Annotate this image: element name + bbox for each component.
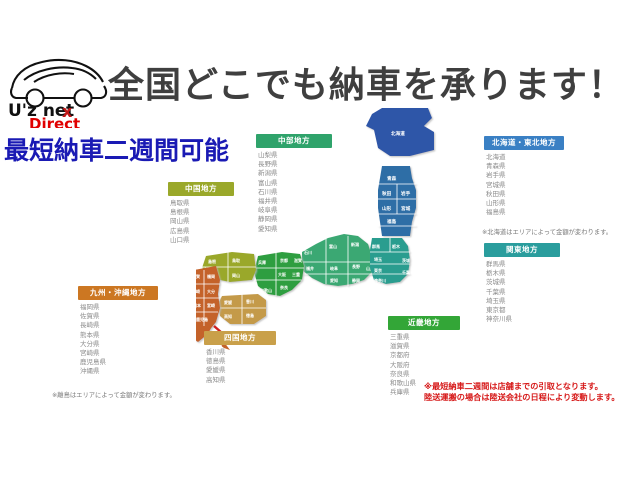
map-label-tokyo: 東京 — [374, 267, 382, 273]
wheel-rear-icon — [75, 90, 92, 107]
list-item: 山形県 — [486, 199, 564, 208]
list-item: 大阪府 — [390, 361, 460, 370]
list-item: 鳥取県 — [170, 199, 234, 208]
delivery-note-line2: 陸送運搬の場合は陸送会社の日程により変動します。 — [424, 392, 620, 404]
region-prefecture-list-kanto: 群馬県 栃木県 茨城県 千葉県 埼玉県 東京都 神奈川県 — [486, 260, 560, 324]
map-label-nagasaki: 長崎 — [196, 288, 200, 294]
list-item: 秋田県 — [486, 190, 564, 199]
list-item: 神奈川県 — [486, 315, 560, 324]
region-title-chugoku: 中国地方 — [168, 182, 234, 196]
list-item: 福島県 — [486, 208, 564, 217]
region-box-chugoku: 中国地方 鳥取県 島根県 岡山県 広島県 山口県 — [168, 182, 234, 245]
region-box-kyushu-okinawa: 九州・沖縄地方 福岡県 佐賀県 長崎県 熊本県 大分県 宮崎県 鹿児島県 沖縄県 — [78, 286, 158, 377]
list-item: 東京都 — [486, 306, 560, 315]
map-label-yamagata: 山形 — [382, 205, 392, 212]
map-label-ishikawa: 石川 — [303, 249, 312, 255]
region-prefecture-list-chugoku: 鳥取県 島根県 岡山県 広島県 山口県 — [170, 199, 234, 245]
list-item: 奈良県 — [390, 370, 460, 379]
list-item: 愛媛県 — [206, 366, 276, 375]
list-item: 静岡県 — [258, 215, 332, 224]
region-box-kanto: 関東地方 群馬県 栃木県 茨城県 千葉県 埼玉県 東京都 神奈川県 — [484, 243, 560, 324]
region-prefecture-list-chubu: 山梨県 長野県 新潟県 富山県 石川県 福井県 岐阜県 静岡県 愛知県 — [258, 151, 332, 234]
map-label-oita: 大分 — [207, 288, 215, 294]
list-item: 三重県 — [390, 333, 460, 342]
region-box-shikoku: 四国地方 香川県 徳島県 愛媛県 高知県 — [204, 331, 276, 385]
map-label-nagano: 長野 — [352, 263, 360, 269]
map-label-osaka: 大阪 — [278, 271, 286, 277]
map-label-shimane: 島根 — [208, 258, 216, 264]
list-item: 大分県 — [80, 340, 158, 349]
list-item: 茨城県 — [486, 278, 560, 287]
map-label-wakayama: 和歌山 — [259, 287, 272, 293]
map-label-ehime: 愛媛 — [224, 299, 233, 305]
map-label-shizuoka: 静岡 — [352, 277, 360, 283]
list-item: 群馬県 — [486, 260, 560, 269]
region-title-kinki: 近畿地方 — [388, 316, 460, 330]
region-title-shikoku: 四国地方 — [204, 331, 276, 345]
map-label-kumamoto: 熊本 — [196, 302, 201, 308]
list-item: 長崎県 — [80, 321, 158, 330]
delivery-note-line1: ※最短納車二週間は店舗までの引取となります。 — [424, 381, 603, 393]
list-item: 埼玉県 — [486, 297, 560, 306]
map-label-kanagawa: 神奈川 — [374, 277, 386, 283]
region-prefecture-list-kyushu-okinawa: 福岡県 佐賀県 長崎県 熊本県 大分県 宮崎県 鹿児島県 沖縄県 — [80, 303, 158, 377]
map-label-kochi: 高知 — [224, 313, 232, 319]
map-label-kyoto: 京都 — [280, 257, 288, 263]
map-label-nara: 奈良 — [279, 284, 288, 290]
map-label-shiga: 滋賀 — [294, 257, 303, 263]
map-label-saitama: 埼玉 — [374, 256, 382, 262]
region-prefecture-list-hokkaido-tohoku: 北海道 青森県 岩手県 宮城県 秋田県 山形県 福島県 — [486, 153, 564, 217]
map-label-hokkaido: 北海道 — [391, 130, 405, 137]
list-item: 北海道 — [486, 153, 564, 162]
map-label-fukui: 福井 — [305, 265, 314, 271]
list-item: 香川県 — [206, 348, 276, 357]
list-item: 岡山県 — [170, 217, 234, 226]
list-item: 沖縄県 — [80, 367, 158, 376]
list-item: 石川県 — [258, 188, 332, 197]
map-label-fukushima: 福島 — [386, 218, 397, 225]
remote-islands-note: ※離島はエリアによって金額が変わります。 — [52, 390, 176, 399]
region-title-chubu: 中部地方 — [256, 134, 332, 148]
region-box-hokkaido-tohoku: 北海道・東北地方 北海道 青森県 岩手県 宮城県 秋田県 山形県 福島県 — [484, 136, 564, 217]
brand-logo: U'z ne t x Direct — [4, 36, 112, 128]
car-silhouette-icon — [11, 60, 106, 98]
region-prefecture-list-shikoku: 香川県 徳島県 愛媛県 高知県 — [206, 348, 276, 385]
region-box-chubu: 中部地方 山梨県 長野県 新潟県 富山県 石川県 福井県 岐阜県 静岡県 愛知県 — [256, 134, 332, 234]
map-label-miyazaki: 宮崎 — [207, 302, 215, 308]
map-label-kagoshima: 鹿児島 — [196, 316, 208, 322]
map-label-kagawa: 香川 — [245, 298, 254, 304]
list-item: 宮城県 — [486, 181, 564, 190]
brand-direct-wordmark: Direct — [29, 115, 80, 128]
map-label-fukuoka: 福岡 — [206, 273, 215, 279]
list-item: 福井県 — [258, 197, 332, 206]
list-item: 山梨県 — [258, 151, 332, 160]
region-title-kyushu-okinawa: 九州・沖縄地方 — [78, 286, 158, 300]
region-title-kanto: 関東地方 — [484, 243, 560, 257]
list-item: 新潟県 — [258, 169, 332, 178]
map-label-tottori: 鳥取 — [232, 257, 240, 263]
list-item: 山口県 — [170, 236, 234, 245]
map-label-iwate: 岩手 — [400, 190, 411, 197]
map-label-miyagi: 宮城 — [401, 205, 411, 212]
map-label-ibaraki: 茨城 — [402, 257, 410, 263]
map-label-gunma: 群馬 — [372, 243, 380, 249]
list-item: 愛知県 — [258, 225, 332, 234]
list-item: 宮崎県 — [80, 349, 158, 358]
map-label-chiba: 千葉 — [402, 269, 411, 275]
list-item: 広島県 — [170, 227, 234, 236]
list-item: 富山県 — [258, 179, 332, 188]
list-item: 熊本県 — [80, 331, 158, 340]
map-region-shikoku — [218, 294, 266, 324]
map-label-okayama: 岡山 — [232, 272, 240, 278]
map-label-aomori: 青森 — [387, 175, 397, 182]
map-label-toyama: 富山 — [329, 243, 337, 249]
list-item: 岩手県 — [486, 171, 564, 180]
list-item: 京都府 — [390, 351, 460, 360]
infographic-canvas: U'z ne t x Direct 全国どこでも納車を承ります！ 最短納車二週間… — [0, 0, 640, 480]
list-item: 千葉県 — [486, 288, 560, 297]
map-label-tochigi: 栃木 — [392, 243, 401, 249]
map-label-gifu: 岐阜 — [330, 265, 338, 271]
hokkaido-area-note: ※北海道はエリアによって金額が変わります。 — [482, 227, 612, 236]
region-title-hokkaido-tohoku: 北海道・東北地方 — [484, 136, 564, 150]
map-label-mie: 三重 — [292, 271, 300, 277]
map-label-aichi: 愛知 — [330, 277, 338, 283]
map-region-tohoku — [378, 166, 416, 236]
map-label-niigata: 新潟 — [351, 241, 359, 247]
list-item: 福岡県 — [80, 303, 158, 312]
map-label-hyogo: 兵庫 — [258, 259, 266, 265]
map-label-akita: 秋田 — [381, 190, 392, 197]
map-label-tokushima: 徳島 — [245, 312, 254, 318]
list-item: 高知県 — [206, 376, 276, 385]
